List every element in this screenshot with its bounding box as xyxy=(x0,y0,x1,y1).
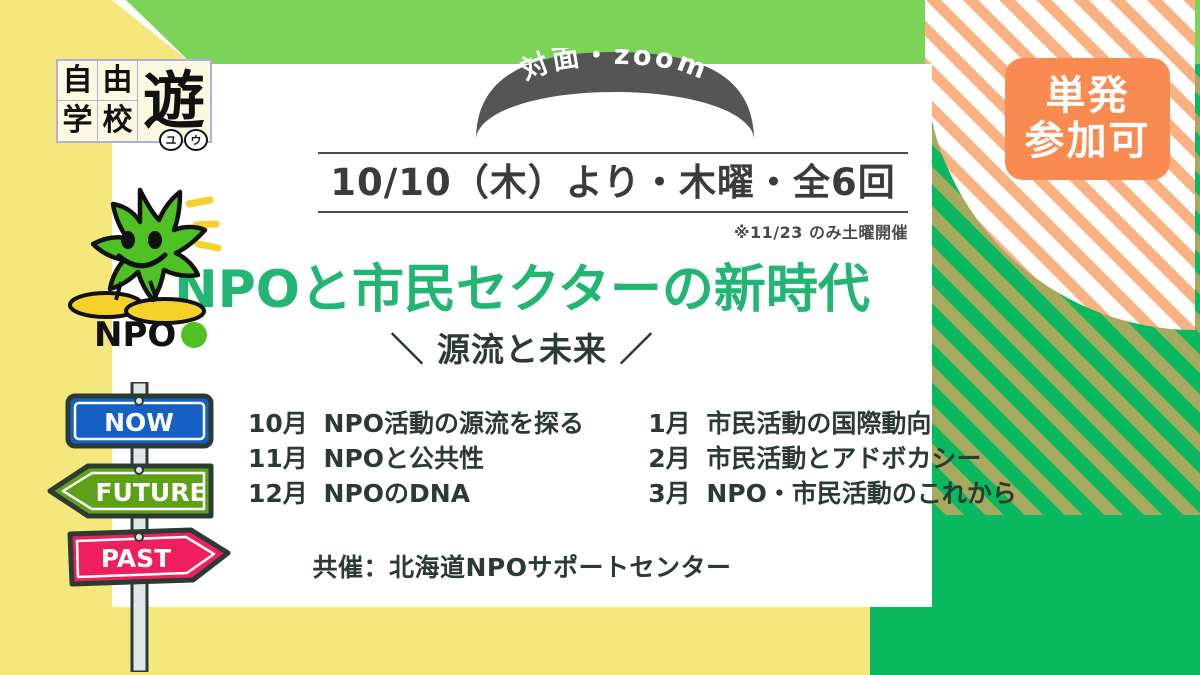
mascot-eye-right xyxy=(148,231,162,249)
session-month: 2月 xyxy=(648,444,690,473)
list-item: 12月 NPOのDNA xyxy=(248,480,618,508)
list-item: 10月 NPO活動の源流を探る xyxy=(248,410,618,438)
session-topic: 市民活動とアドボカシー xyxy=(706,444,981,473)
event-poster: 自 由 学 校 遊 ユ ウ xyxy=(0,0,1200,675)
session-topic: NPO活動の源流を探る xyxy=(324,409,585,438)
logo-char-ji: 自 xyxy=(58,61,98,101)
brand-logo: 自 由 学 校 遊 ユ ウ xyxy=(56,59,212,143)
session-topic: NPOのDNA xyxy=(324,479,471,508)
session-topic: NPOと公共性 xyxy=(324,444,485,473)
logo-big-glyph: 遊 xyxy=(143,70,205,132)
signpost-sign-future: FUTURE xyxy=(50,466,211,516)
drop-in-badge: 単発 参加可 xyxy=(1005,58,1170,180)
page-title: NPOと市民セクターの新時代 xyxy=(112,262,932,319)
logo-char-gaku: 学 xyxy=(58,101,98,141)
bg-green-bottom-band xyxy=(870,607,1200,675)
session-month: 12月 xyxy=(248,479,308,508)
npo-sprout-mascot-icon: NPO xyxy=(58,178,228,353)
signpost-label-now: NOW xyxy=(104,408,174,437)
session-month: 11月 xyxy=(248,444,308,473)
page-subtitle: ＼ 源流と未来 ／ xyxy=(112,332,932,368)
date-main-text: 10/10（木）より・木曜・全6回 xyxy=(318,154,908,211)
brand-logo-grid: 自 由 学 校 xyxy=(58,61,138,141)
logo-ruby-yu: ユ xyxy=(159,129,183,151)
session-month: 3月 xyxy=(648,479,690,508)
signpost-label-future: FUTURE xyxy=(95,478,206,507)
session-list: 10月 NPO活動の源流を探る 11月 NPOと公共性 12月 NPOのDNA … xyxy=(248,410,1038,508)
logo-ruby-group: ユ ウ xyxy=(159,129,208,151)
signpost-label-past: PAST xyxy=(101,544,171,573)
logo-char-kou: 校 xyxy=(98,101,138,141)
format-badge: 対面・zoom xyxy=(470,48,760,148)
date-note-text: ※11/23 のみ土曜開催 xyxy=(318,213,908,243)
drop-in-badge-line1: 単発 xyxy=(1046,75,1130,118)
session-topic: 市民活動の国際動向 xyxy=(706,409,931,438)
logo-ruby-u: ウ xyxy=(184,129,208,151)
session-column-left: 10月 NPO活動の源流を探る 11月 NPOと公共性 12月 NPOのDNA xyxy=(248,410,618,508)
date-block: 10/10（木）より・木曜・全6回 ※11/23 のみ土曜開催 xyxy=(318,152,908,243)
signpost-sign-past: PAST xyxy=(70,530,228,584)
session-month: 1月 xyxy=(648,409,690,438)
mascot-eye-left xyxy=(121,231,135,249)
signpost-sign-now: NOW xyxy=(68,396,211,446)
list-item: 11月 NPOと公共性 xyxy=(248,445,618,473)
session-column-right: 1月 市民活動の国際動向 2月 市民活動とアドボカシー 3月 NPO・市民活動の… xyxy=(648,410,1038,508)
list-item: 2月 市民活動とアドボカシー xyxy=(648,445,1038,473)
signpost-graphic: NOW FUTURE PAST xyxy=(46,382,246,672)
logo-char-yuu: 由 xyxy=(98,61,138,101)
drop-in-badge-line2: 参加可 xyxy=(1025,120,1151,163)
logo-char-asobi: 遊 ユ ウ xyxy=(138,61,210,141)
mascot-npo-text: NPO xyxy=(94,315,176,353)
list-item: 3月 NPO・市民活動のこれから xyxy=(648,480,1038,508)
session-month: 10月 xyxy=(248,409,308,438)
list-item: 1月 市民活動の国際動向 xyxy=(648,410,1038,438)
session-topic: NPO・市民活動のこれから xyxy=(706,479,1017,508)
